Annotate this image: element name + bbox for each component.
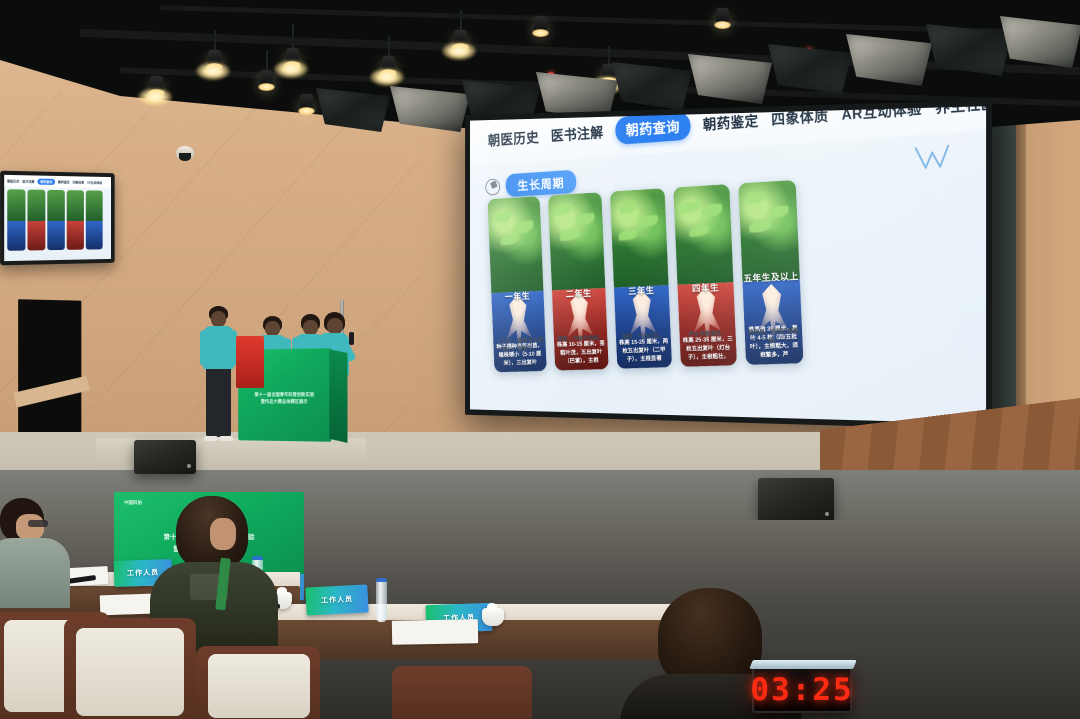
nav-tab-ar-experience[interactable]: AR互动体验 [841,106,922,124]
podium-side-face [329,349,347,443]
sm-tab-1: 医书注解 [22,179,34,183]
card-label: 二年生 [552,285,606,300]
section-badge: 生长周期 [505,170,576,198]
light-rod [608,46,610,66]
stage-monitor-speaker-left [134,440,196,474]
face [16,514,44,540]
light-rod [460,10,462,32]
judge-1 [0,498,66,608]
ginseng-photo-top [548,192,605,290]
shoe [204,436,218,441]
side-monitor: 朝医历史 医书注解 朝药查询 朝药鉴定 四象体质 AR互动体验 [0,171,115,266]
sm-tab-0: 朝医历史 [7,179,19,183]
stage-monitor-speaker-right [758,478,834,522]
sm-tab-3: 朝药鉴定 [58,179,70,183]
staff-nameplate: 工作人员 [305,584,368,615]
eyeglasses-icon [28,520,48,527]
arm [200,330,208,366]
security-camera-icon [176,146,194,160]
water-bottle[interactable] [376,578,387,622]
nav-tab-annotation[interactable]: 医书注解 [550,122,603,146]
light-glow [370,68,404,86]
face [210,518,236,550]
light-rod [292,24,294,50]
handheld-microphone-icon [349,332,354,345]
red-poster [236,336,264,388]
side-monitor-screen: 朝医历史 医书注解 朝药查询 朝药鉴定 四象体质 AR互动体验 [4,175,111,261]
ginseng-photo-top [673,184,733,284]
document-paper[interactable] [392,619,478,644]
card-label: 五年生及以上 [742,269,800,285]
card-label: 四年生 [677,279,734,295]
sm-tab-4: 四象体质 [73,180,84,184]
light-glow [196,62,230,80]
nav-tab-identification[interactable]: 朝药鉴定 [702,110,759,135]
w-mark-logo-icon [913,142,951,172]
sm-card [47,190,65,250]
judge-clothing [0,538,70,608]
stage-light [260,70,273,87]
sm-card [27,190,45,251]
audience-chair [392,666,532,719]
sm-tab-2: 朝药查询 [37,178,55,184]
light-rod [266,50,268,72]
card-caption: （三花），圆锥状主根细小，须根少。 [493,336,546,355]
light-glow [442,42,476,60]
hair [658,588,762,688]
stage-light [534,16,547,33]
photo-scene: 朝医历史 医书注解 朝药查询 朝药鉴定 四象体质 AR互动体验 朝医历史 医书注… [0,0,1080,719]
podium-line1: 第十一届全国青年科普创新实验 [244,391,326,399]
ginseng-photo-top [610,188,669,287]
ginseng-photo-top [487,196,543,293]
ginseng-photo-top [738,180,800,282]
nav-tab-constitution[interactable]: 四象体质 [771,106,829,129]
podium-text: 第十一届全国青年科普创新实验 暨作品大赛总体赛区展示 [238,391,331,406]
presentation-screen: 朝医历史 医书注解 朝药查询 朝药鉴定 四象体质 AR互动体验 养生社区 生长周… [470,106,986,424]
head [327,318,343,334]
teacup[interactable] [482,608,504,626]
head [211,311,226,327]
light-rod [388,36,390,58]
screen-content: 生长周期 一年生 种子播种当年出苗，植株矮小（5-10 厘米），三 [470,128,986,420]
presenter-1 [198,306,240,446]
card-label: 三年生 [614,282,669,298]
nav-tab-drug-query[interactable]: 朝药查询 [615,111,691,144]
timer-value: 03:25 [750,672,853,708]
head [265,321,280,336]
sm-card [86,190,103,249]
podium-line2: 暨作品大赛总体赛区展示 [244,398,326,406]
card-caption: 碗明显，药用价值最佳。 [744,327,802,347]
light-glow [274,60,308,78]
led-display-wall: 朝医历史 医书注解 朝药查询 朝药鉴定 四象体质 AR互动体验 养生社区 生长周… [465,100,992,430]
chair-cushion [208,654,310,718]
shoe [219,436,233,441]
card-label: 一年生 [491,288,544,303]
chair-cushion [76,628,184,716]
sm-card [67,190,84,250]
light-rod [214,30,216,52]
side-monitor-cards [4,186,111,254]
nav-tab-community[interactable]: 养生社区 [935,106,986,117]
stage-light [716,8,729,25]
sm-tab-5: AR互动体验 [87,180,102,184]
backdrop-brand: 中国科协 [124,500,142,506]
sm-card [7,189,25,251]
countdown-timer: 03:25 [752,666,852,713]
stage-light [300,94,313,111]
trousers [206,369,231,437]
growth-clock-icon [485,178,500,195]
light-glow [138,88,172,106]
nav-tab-history[interactable]: 朝医历史 [487,127,539,150]
